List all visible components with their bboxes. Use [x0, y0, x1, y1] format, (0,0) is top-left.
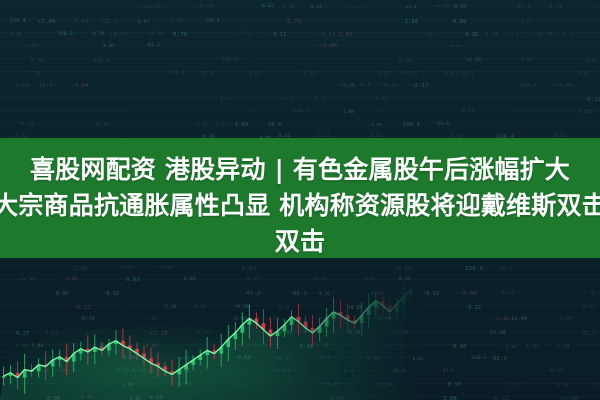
- quote-cell: 0.97: [96, 122, 111, 128]
- quote-cell: -0.58: [90, 32, 105, 37]
- quote-cell: +3.40: [435, 4, 450, 9]
- quote-cell: 4.16: [465, 32, 478, 38]
- quote-cell: 126.4: [222, 58, 238, 63]
- quote-cell: -0.84: [318, 32, 335, 38]
- quote-cell: 33.6: [508, 32, 519, 37]
- quote-cell: 2.36: [586, 58, 597, 63]
- quote-cell: +0.05: [110, 32, 128, 38]
- quote-cell: 9.27: [351, 4, 361, 9]
- quote-cell: -2.17: [592, 382, 600, 388]
- quote-cell: -0.58: [374, 71, 390, 77]
- quote-cell: 210.3: [58, 32, 73, 37]
- quote-cell: 9.27: [550, 368, 563, 374]
- quote-cell: 126.4: [94, 58, 110, 64]
- quote-cell: -0.12: [491, 396, 509, 400]
- quote-cell: 62.1: [517, 4, 531, 10]
- quote-cell: 0.76: [173, 32, 188, 38]
- quote-cell: 0.00: [453, 344, 467, 350]
- quote-cell: -0.58: [197, 4, 213, 9]
- quote-cell: -2.17: [411, 83, 429, 89]
- quote-cell: 0.76: [31, 58, 44, 64]
- quote-cell: -0.84: [448, 43, 461, 48]
- quote-cell: 1.03: [526, 344, 540, 350]
- quote-cell: 0.83: [444, 71, 458, 77]
- quote-cell: 210.3: [471, 356, 487, 361]
- quote-cell: 1.03: [339, 32, 352, 38]
- quote-cell: -0.12: [381, 83, 398, 89]
- headline-banner: [0, 138, 600, 258]
- quote-cell: 18.9: [39, 83, 53, 89]
- quote-cell: 126.4: [425, 32, 439, 37]
- quote-cell: 9.27: [315, 97, 327, 102]
- quote-cell: -0.84: [72, 83, 89, 89]
- quote-cell: 0.76: [287, 19, 301, 25]
- candle-body: [2, 376, 6, 378]
- quote-cell: -0.58: [555, 382, 568, 387]
- quote-cell: 0.83: [578, 109, 592, 115]
- chart-svg: [0, 250, 420, 400]
- quote-cell: 47.2: [501, 266, 512, 271]
- quote-cell: -2.17: [8, 32, 22, 37]
- candlestick-chart: [0, 250, 420, 400]
- quote-cell: 210.3: [403, 122, 420, 128]
- quote-cell: 0.00: [485, 32, 499, 38]
- data-grid-rule: [0, 6, 600, 7]
- quote-cell: 0.00: [376, 97, 388, 102]
- quote-cell: 1.03: [26, 43, 37, 48]
- quote-cell: 47.2: [443, 368, 454, 373]
- quote-cell: 210.3: [293, 109, 309, 114]
- quote-cell: 3.08: [443, 396, 457, 400]
- quote-cell: -0.12: [423, 291, 440, 297]
- quote-cell: +3.40: [38, 19, 55, 25]
- quote-cell: 0.76: [591, 291, 600, 297]
- quote-cell: 0.09: [453, 19, 466, 25]
- quote-cell: 4.16: [283, 4, 294, 9]
- quote-cell: 33.6: [437, 122, 449, 127]
- quote-cell: 0.31: [549, 4, 562, 10]
- quote-cell: 0.62: [249, 71, 260, 76]
- quote-cell: +1.25: [508, 382, 522, 387]
- data-grid-rule: [0, 97, 600, 98]
- quote-cell: 5.44: [220, 97, 232, 102]
- quote-cell: 0.62: [262, 4, 274, 9]
- quote-cell: 126.4: [169, 71, 185, 76]
- quote-cell: 15.40: [490, 331, 506, 336]
- quote-cell: 0.00: [16, 83, 30, 89]
- quote-cell: 5.44: [170, 19, 183, 24]
- quote-cell: 0.62: [583, 305, 595, 310]
- quote-cell: 9.27: [560, 316, 573, 322]
- quote-cell: 47.2: [239, 32, 251, 37]
- quote-cell: -0.12: [18, 122, 34, 127]
- quote-cell: -0.12: [465, 305, 481, 311]
- quote-cell: 33.6: [359, 83, 371, 88]
- quote-cell: 126.4: [460, 71, 474, 76]
- quote-cell: 4.16: [521, 19, 532, 24]
- quote-cell: 210.3: [520, 83, 536, 89]
- screenshot-canvas: +1.25-0.580.624.160.319.2733.6+3.400.976…: [0, 0, 600, 400]
- data-grid-rule: [0, 123, 600, 124]
- quote-cell: 0.44: [74, 19, 89, 25]
- data-grid-rule: [0, 45, 600, 46]
- quote-cell: +3.40: [466, 58, 481, 63]
- quote-cell: +3.40: [560, 396, 578, 400]
- quote-cell: -2.17: [503, 344, 516, 349]
- quote-cell: 126.4: [205, 19, 220, 24]
- quote-cell: 62.1: [148, 43, 160, 48]
- quote-cell: 1.88: [405, 19, 418, 25]
- quote-cell: +0.05: [401, 71, 418, 77]
- quote-cell: +0.05: [556, 83, 573, 89]
- quote-cell: 0.62: [216, 122, 227, 127]
- quote-cell: 0.31: [502, 291, 514, 296]
- chart-area-fill: [0, 283, 420, 400]
- quote-cell: 0.00: [578, 71, 589, 76]
- quote-cell: +3.40: [319, 43, 337, 49]
- quote-cell: +0.05: [535, 32, 553, 38]
- quote-cell: -0.12: [584, 97, 600, 103]
- quote-cell: 0.31: [563, 32, 574, 37]
- quote-cell: 2.36: [27, 71, 41, 77]
- quote-cell: 0.83: [521, 58, 534, 63]
- quote-cell: 0.97: [448, 382, 461, 388]
- quote-cell: 1.03: [235, 122, 248, 128]
- quote-cell: 0.44: [557, 344, 570, 350]
- quote-cell: 62.1: [493, 356, 507, 362]
- quote-cell: 0.83: [303, 71, 316, 77]
- quote-cell: 1.88: [343, 109, 354, 114]
- quote-cell: +3.40: [495, 316, 509, 321]
- quote-cell: 0.97: [138, 19, 149, 24]
- quote-cell: 15.40: [149, 32, 163, 37]
- data-grid-rule: [0, 84, 600, 85]
- quote-cell: 33.6: [406, 4, 417, 9]
- quote-cell: -0.12: [270, 32, 287, 38]
- quote-cell: 2.36: [197, 122, 208, 127]
- quote-cell: 18.9: [200, 71, 214, 77]
- quote-cell: 2.36: [596, 4, 600, 9]
- data-grid-rule: [0, 58, 600, 59]
- quote-cell: 2.36: [103, 43, 114, 48]
- quote-cell: 0.31: [462, 109, 474, 114]
- quote-cell: 126.4: [10, 19, 26, 24]
- quote-cell: 0.44: [463, 291, 477, 297]
- quote-cell: +1.25: [143, 4, 161, 10]
- quote-cell: 62.1: [282, 97, 294, 102]
- quote-cell: 0.31: [399, 58, 413, 64]
- quote-cell: 18.9: [268, 122, 281, 128]
- quote-cell: 0.31: [311, 4, 322, 9]
- quote-cell: 0.97: [454, 4, 467, 10]
- quote-cell: 126.4: [465, 266, 483, 272]
- quote-cell: 15.40: [511, 316, 527, 322]
- quote-cell: +1.25: [341, 83, 355, 88]
- quote-cell: -0.58: [369, 122, 382, 127]
- quote-cell: 33.6: [582, 331, 596, 337]
- quote-cell: 210.3: [100, 19, 118, 25]
- data-grid-rule: [0, 71, 600, 72]
